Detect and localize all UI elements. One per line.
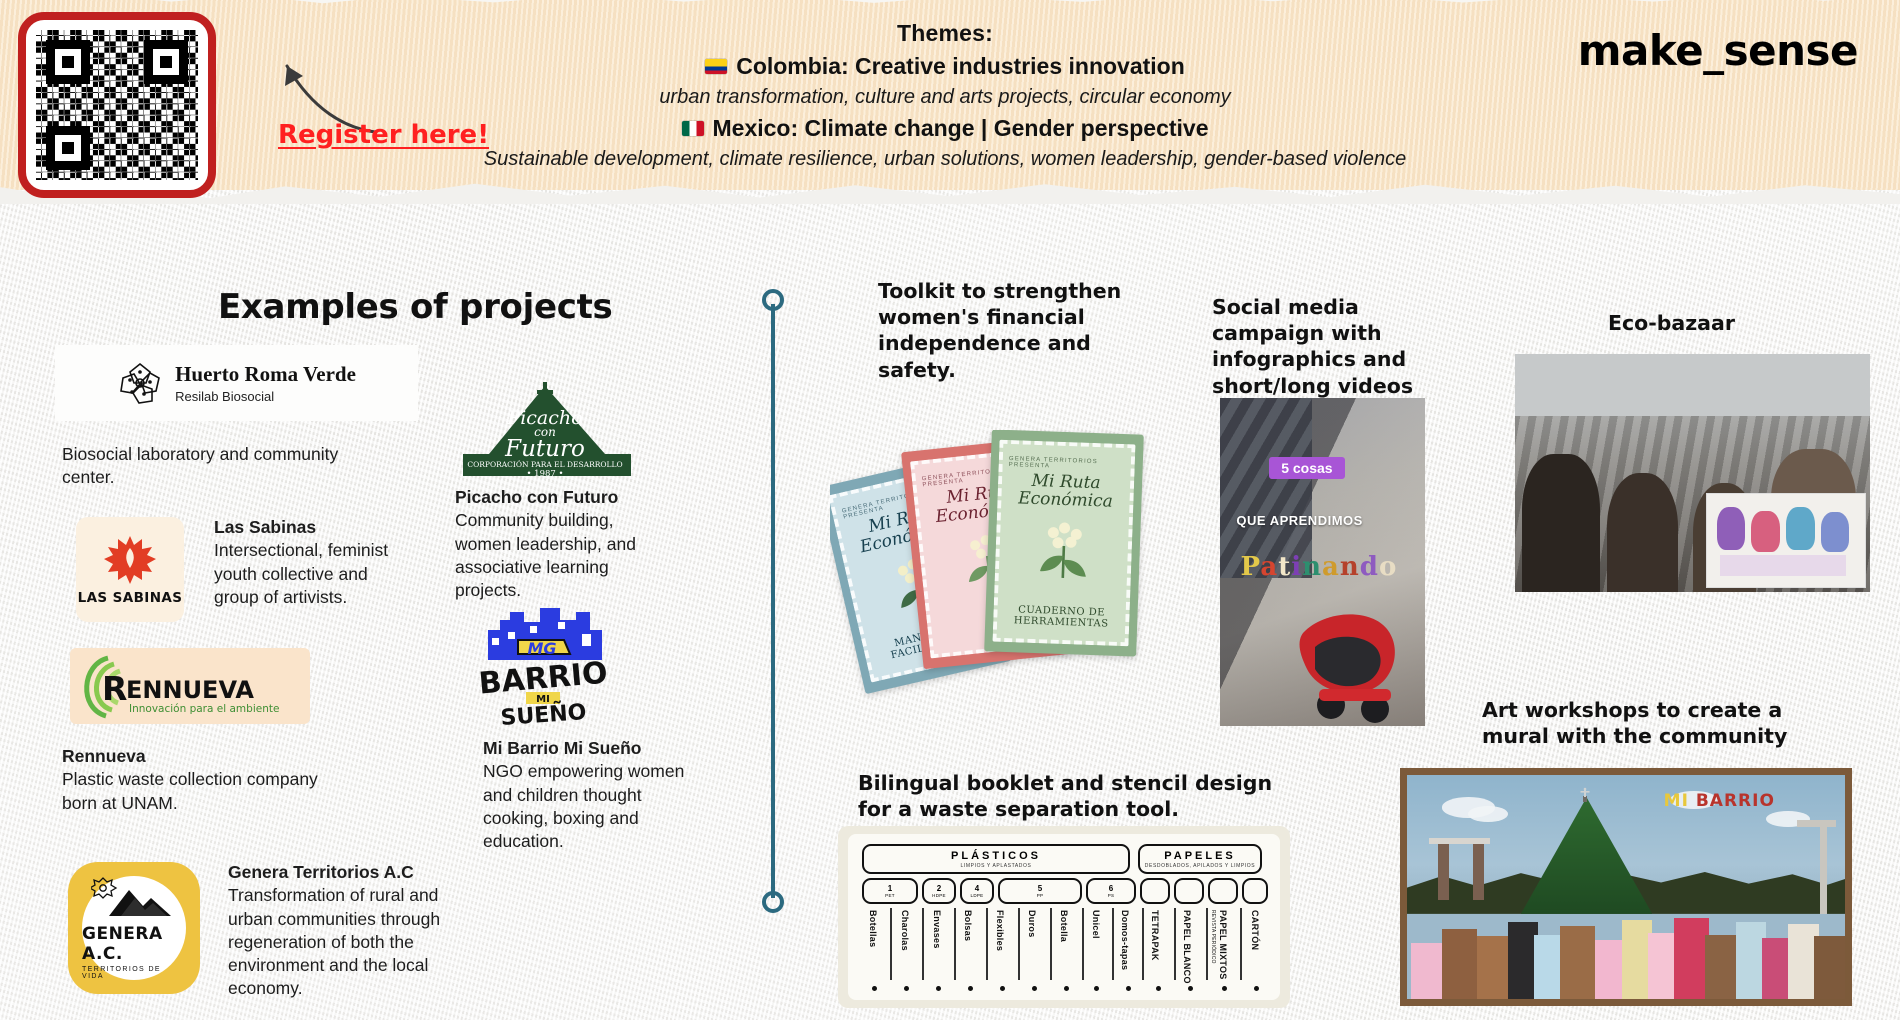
waste-group-plasticos-subtitle: LIMPIOS Y APLASTADOS <box>961 863 1032 869</box>
image-social-media-video: 5 cosas QUE APRENDIMOS Patinando <box>1220 398 1425 726</box>
christ-statue-icon <box>1580 786 1590 802</box>
stamp-card-green: GENERA TERRITORIOS PRESENTA Mi Ruta Econ… <box>984 430 1144 657</box>
make-sense-logo: make_sense <box>1578 26 1858 75</box>
project-name-mi-barrio: Mi Barrio Mi Sueño <box>483 738 641 758</box>
waste-col-papel-mixtos: PAPEL MIXTOS <box>1218 910 1228 980</box>
image-eco-bazaar <box>1515 354 1870 592</box>
svg-text:CORPORACIÓN PARA EL DESARROLLO: CORPORACIÓN PARA EL DESARROLLO <box>467 460 622 469</box>
waste-group-papeles-subtitle: DESDOBLADOS, APILADOS Y LIMPIOS <box>1145 863 1255 869</box>
project-desc-huerto: Biosocial laboratory and community cente… <box>62 443 382 490</box>
waste-code-ldpe: 4 LDPE <box>960 878 994 904</box>
logo-card-rennueva: R ENNUEVA Innovación para el ambiente <box>70 648 310 724</box>
project-name-genera: Genera Territorios A.C <box>228 862 414 882</box>
waste-code-pp-code: PP <box>1037 893 1044 898</box>
waste-col-bolsas: Bolsas <box>963 910 973 941</box>
waste-code-hdpe-code: HDPE <box>932 893 946 898</box>
heading-art-workshops: Art workshops to create a mural with the… <box>1482 697 1792 749</box>
logo-card-mi-barrio: MG BARRIO MI SUEÑO <box>470 592 620 732</box>
waste-group-papeles: PAPELES DESDOBLADOS, APILADOS Y LIMPIOS <box>1138 844 1262 874</box>
waste-code-pet: 1 PET <box>862 878 918 904</box>
waste-col-envases: Envases <box>932 910 942 949</box>
waste-code-ldpe-num: 4 <box>975 884 979 893</box>
logo-card-las-sabinas: LAS SABINAS <box>76 517 184 622</box>
themes-title: Themes: <box>430 20 1460 47</box>
sun-flame-icon <box>102 534 158 586</box>
qr-finder-top-left-icon <box>46 40 90 84</box>
logo-subtitle-genera: TERRITORIOS DE VIDA <box>82 966 186 980</box>
waste-col-duros: Duros <box>1027 910 1037 938</box>
waste-code-ps-num: 6 <box>1109 884 1113 893</box>
theme-colombia-row: Colombia: Creative industries innovation <box>430 53 1460 80</box>
logo-card-huerto-roma-verde: Huerto Roma Verde Resilab Biosocial <box>55 345 418 421</box>
flag-mexico-icon <box>682 121 704 136</box>
waste-chart-panel: PLÁSTICOS LIMPIOS Y APLASTADOS PAPELES D… <box>848 834 1280 1000</box>
waste-col-note: REVISTA PERIÓDICO <box>1210 910 1216 964</box>
waste-col-tetrapak: TETRAPAK <box>1150 910 1160 961</box>
waste-code-ps-code: PS <box>1108 893 1115 898</box>
waste-code-hdpe: 2 HDPE <box>922 878 956 904</box>
theme-mexico-row: Mexico: Climate change | Gender perspect… <box>430 115 1460 142</box>
flower-illustration-icon <box>1030 519 1098 583</box>
waste-group-plasticos: PLÁSTICOS LIMPIOS Y APLASTADOS <box>862 844 1130 874</box>
video-caption-3: Patinando <box>1241 552 1398 582</box>
project-block-las-sabinas: Las Sabinas Intersectional, feminist you… <box>214 516 399 609</box>
project-desc-genera: Transformation of rural and urban commun… <box>228 885 440 998</box>
flower-mandala-icon <box>117 360 163 406</box>
stamp-title-green: Mi Ruta Económica <box>1007 472 1124 512</box>
svg-text:• 1987 •: • 1987 • <box>526 469 563 479</box>
mural-title: MI BARRIO <box>1664 791 1775 811</box>
waste-icon-carton <box>1242 878 1268 904</box>
handprint-artwork-inset <box>1706 493 1866 588</box>
rennueva-logo-icon: R ENNUEVA Innovación para el ambiente <box>72 650 308 722</box>
image-waste-separation-chart: PLÁSTICOS LIMPIOS Y APLASTADOS PAPELES D… <box>838 826 1290 1008</box>
waste-col-flexibles: Flexibles <box>995 910 1005 951</box>
project-name-las-sabinas: Las Sabinas <box>214 517 316 537</box>
flag-colombia-icon <box>705 59 727 74</box>
header-banner: Register here! Themes: Colombia: Creativ… <box>0 0 1900 198</box>
heading-eco-bazaar: Eco-bazaar <box>1608 310 1838 336</box>
logo-title-genera: GENERA A.C. <box>82 924 186 964</box>
project-desc-picacho: Community building, women leadership, an… <box>455 510 636 600</box>
vertical-timeline-divider <box>758 286 788 916</box>
image-community-mural: MI BARRIO <box>1400 768 1852 1006</box>
logo-card-picacho: Picacho con Futuro CORPORACIÓN PARA EL D… <box>455 380 635 490</box>
image-toolkit-booklets: GENERA TERRITORIOS PRESENTA Mi Ruta Econ… <box>830 430 1180 720</box>
project-name-picacho: Picacho con Futuro <box>455 487 618 507</box>
waste-code-pet-num: 1 <box>888 884 892 893</box>
svg-text:MG: MG <box>527 639 556 658</box>
svg-text:Innovación para el ambiente: Innovación para el ambiente <box>129 703 279 715</box>
theme-mexico-subtitle: Sustainable development, climate resilie… <box>430 148 1460 171</box>
mi-barrio-graffiti-icon: MG BARRIO MI SUEÑO <box>470 592 620 732</box>
project-desc-mi-barrio: NGO empowering women and children though… <box>483 761 684 851</box>
waste-code-pet-code: PET <box>885 893 895 898</box>
video-badge: 5 cosas <box>1269 457 1344 479</box>
logo-card-genera: GENERA A.C. TERRITORIOS DE VIDA <box>68 862 200 994</box>
project-desc-las-sabinas: Intersectional, feminist youth collectiv… <box>214 540 388 607</box>
picacho-mountain-logo-icon: Picacho con Futuro CORPORACIÓN PARA EL D… <box>455 380 635 490</box>
qr-finder-bottom-left-icon <box>46 126 90 170</box>
mural-canvas: MI BARRIO <box>1407 775 1845 999</box>
mural-title-a: MI <box>1664 791 1689 811</box>
waste-col-botellas: Botellas <box>868 910 878 947</box>
waste-code-ps: 6 PS <box>1086 878 1136 904</box>
svg-text:ENNUEVA: ENNUEVA <box>126 676 254 704</box>
waste-group-papeles-title: PAPELES <box>1164 850 1236 862</box>
theme-colombia-label: Colombia: Creative industries innovation <box>736 53 1185 80</box>
mountain-sun-icon <box>91 876 177 922</box>
project-block-genera: Genera Territorios A.C Transformation of… <box>228 861 446 1001</box>
theme-colombia-subtitle: urban transformation, culture and arts p… <box>430 86 1460 109</box>
video-caption-2: QUE APRENDIMOS <box>1236 513 1362 528</box>
waste-icon-papel-blanco <box>1174 878 1204 904</box>
roller-skate-icon <box>1283 593 1425 726</box>
heading-bilingual-booklet: Bilingual booklet and stencil design for… <box>858 770 1288 822</box>
waste-col-charolas: Charolas <box>900 910 910 951</box>
logo-title-las-sabinas: LAS SABINAS <box>78 590 183 606</box>
qr-finder-top-right-icon <box>144 40 188 84</box>
waste-col-domos-tapas: Domos-tapas <box>1120 910 1130 970</box>
svg-text:Futuro: Futuro <box>504 436 585 462</box>
waste-icon-papel-mixtos <box>1208 878 1238 904</box>
project-desc-rennueva: Plastic waste collection company born at… <box>62 769 318 812</box>
project-name-rennueva: Rennueva <box>62 746 146 766</box>
waste-code-hdpe-num: 2 <box>937 884 941 893</box>
waste-col-botella: Botella <box>1059 910 1069 942</box>
page-title: Examples of projects <box>218 287 612 327</box>
heading-social-media: Social media campaign with infographics … <box>1212 294 1477 399</box>
waste-code-ldpe-code: LDPE <box>971 893 984 898</box>
project-block-mi-barrio: Mi Barrio Mi Sueño NGO empowering women … <box>483 737 698 853</box>
logo-subtitle-huerto: Resilab Biosocial <box>175 389 356 404</box>
stamp-foot-green: CUADERNO DE HERRAMIENTAS <box>1003 604 1120 630</box>
waste-col-carton: CARTÓN <box>1250 910 1260 950</box>
mural-cardboard-houses <box>1407 909 1845 999</box>
mural-green-peak <box>1521 797 1652 913</box>
waste-icon-tetrapak <box>1140 878 1170 904</box>
svg-text:SUEÑO: SUEÑO <box>500 699 587 731</box>
waste-group-plasticos-title: PLÁSTICOS <box>951 850 1041 862</box>
waste-col-unicel: Unicel <box>1091 910 1101 939</box>
svg-text:R: R <box>102 669 127 708</box>
themes-block: Themes: Colombia: Creative industries in… <box>430 20 1460 171</box>
project-block-rennueva: Rennueva Plastic waste collection compan… <box>62 745 322 815</box>
qr-code-box[interactable] <box>18 12 216 198</box>
project-block-picacho: Picacho con Futuro Community building, w… <box>455 486 670 602</box>
mural-title-b: BARRIO <box>1696 791 1775 811</box>
heading-toolkit: Toolkit to strengthen women's financial … <box>878 278 1123 383</box>
waste-code-pp: 5 PP <box>998 878 1082 904</box>
theme-mexico-label: Mexico: Climate change | Gender perspect… <box>713 115 1209 142</box>
waste-col-papel-blanco: PAPEL BLANCO <box>1182 910 1192 984</box>
logo-title-huerto: Huerto Roma Verde <box>175 362 356 387</box>
waste-code-pp-num: 5 <box>1038 884 1042 893</box>
stamp-brand-green: GENERA TERRITORIOS PRESENTA <box>1009 456 1125 472</box>
